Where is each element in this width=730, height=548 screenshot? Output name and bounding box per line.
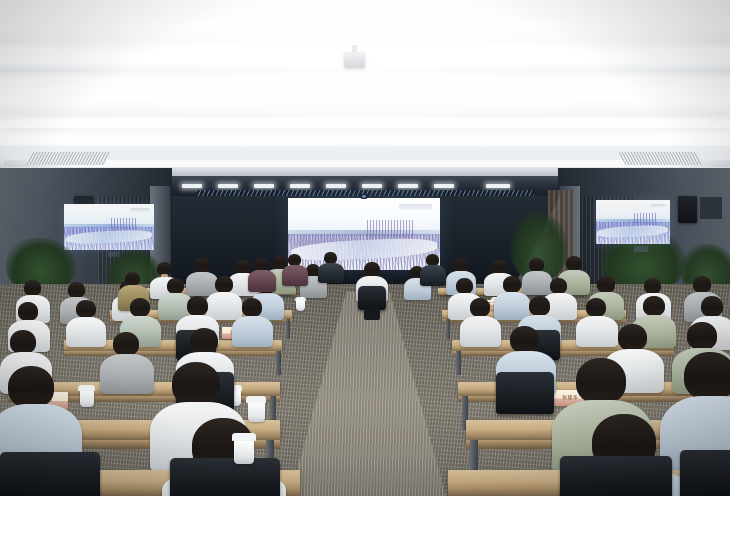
conference-room-photo: 王志强 (0, 0, 730, 496)
soffit-slot-light (182, 184, 202, 188)
tea-cup-lid (232, 433, 256, 441)
screen-skyline-block (634, 213, 656, 225)
attendee-torso (522, 271, 552, 295)
ceiling-band (0, 128, 730, 136)
tea-cup-lid (295, 297, 306, 301)
attendee-head (503, 276, 521, 293)
attendee-head (190, 328, 218, 354)
attendee-torso (206, 292, 242, 320)
attendee-head (172, 362, 220, 406)
ceiling-projector-icon (344, 52, 365, 68)
attendee-head (10, 330, 36, 354)
chair-base (364, 308, 380, 320)
attendee-torso (248, 270, 276, 292)
chair (358, 286, 386, 310)
attendee-torso (494, 292, 530, 320)
attendee-torso (282, 265, 308, 286)
attendee-head (510, 326, 539, 353)
right-led-screen (596, 200, 670, 244)
chair (496, 372, 554, 414)
attendee-head (167, 278, 184, 294)
attendee-head (456, 278, 473, 294)
attendee-head (125, 272, 140, 286)
chair (560, 456, 672, 496)
attendee-head (453, 258, 468, 272)
attendee-head (576, 358, 626, 404)
tea-cup (80, 390, 94, 407)
attendee-torso (66, 317, 106, 347)
desk-leg (276, 351, 281, 375)
desk-leg (286, 319, 290, 339)
attendee-head (235, 260, 250, 274)
screen-skyline-block (111, 218, 138, 231)
tea-cup-lid (78, 385, 95, 391)
attendee-head (76, 300, 96, 318)
screen-watermark (130, 208, 150, 212)
attendee-torso (100, 354, 154, 394)
camera-lens-icon (362, 195, 366, 198)
attendee-head (492, 260, 507, 274)
screen-watermark (650, 204, 666, 208)
attendee-head (68, 282, 85, 298)
attendee-head (215, 276, 233, 293)
attendee-head (24, 280, 41, 296)
white-margin (0, 496, 730, 548)
attendee-head (130, 298, 150, 317)
ceiling-light-strip (0, 136, 730, 142)
attendee-torso (460, 316, 501, 347)
attendee-head (684, 352, 730, 400)
tea-cup (296, 300, 305, 311)
attendee-head (470, 298, 490, 317)
ceiling-light-strip (0, 118, 730, 127)
wall-sign (700, 197, 722, 219)
screen-skyline-block (367, 220, 413, 240)
tea-cup-lid (246, 396, 266, 403)
attendee-head (364, 262, 380, 277)
attendee-torso (576, 316, 618, 347)
attendee-head (529, 258, 544, 272)
attendee-head (566, 256, 582, 271)
photo-frame: 王志强 (0, 0, 730, 548)
attendee-head (693, 276, 711, 293)
main-screen-content (288, 198, 440, 270)
air-grille-icon (27, 152, 112, 165)
attendee-head (529, 296, 550, 316)
left-screen-content (64, 204, 154, 250)
attendee-torso (318, 263, 344, 283)
soffit-slot-light (486, 184, 510, 188)
name-plate-text: 张建华 (562, 396, 578, 401)
attendee-head (597, 276, 615, 293)
soffit-slot-light (434, 184, 454, 188)
screen-watermark (399, 204, 432, 210)
attendee-head (618, 324, 647, 351)
main-led-screen (288, 198, 440, 270)
chair (170, 458, 280, 496)
soffit-slot-light (290, 184, 310, 188)
soffit-slot-light (254, 184, 274, 188)
tea-cup (248, 402, 265, 422)
desk-leg (446, 319, 450, 339)
soffit-slot-light (326, 184, 346, 188)
attendee-head (113, 332, 139, 356)
attendee-head (643, 296, 665, 316)
desk-edge (64, 351, 282, 356)
attendee-torso (420, 265, 446, 286)
attendee-torso (232, 316, 273, 347)
tea-cup (234, 440, 254, 464)
soffit-slot-light (362, 184, 382, 188)
attendee-head (187, 296, 208, 316)
air-grille-icon (619, 152, 704, 165)
attendee-head (701, 296, 723, 317)
attendee-head (18, 302, 38, 321)
soffit-slot-light (218, 184, 238, 188)
right-screen-content (596, 200, 670, 244)
ceiling-light-strip (4, 160, 730, 167)
left-led-screen (64, 204, 154, 250)
soffit-slot-light (398, 184, 418, 188)
attendee-head (550, 278, 567, 294)
attendee-head (242, 298, 262, 317)
chair (680, 450, 730, 496)
chair (0, 452, 100, 496)
right-screen-badge (634, 246, 648, 252)
attendee-head (644, 278, 661, 294)
desk-leg (456, 351, 461, 375)
attendee-head (194, 258, 210, 273)
attendee-head (8, 366, 54, 408)
attendee-head (687, 322, 717, 350)
speaker-icon (678, 196, 697, 223)
attendee-head (586, 298, 606, 317)
